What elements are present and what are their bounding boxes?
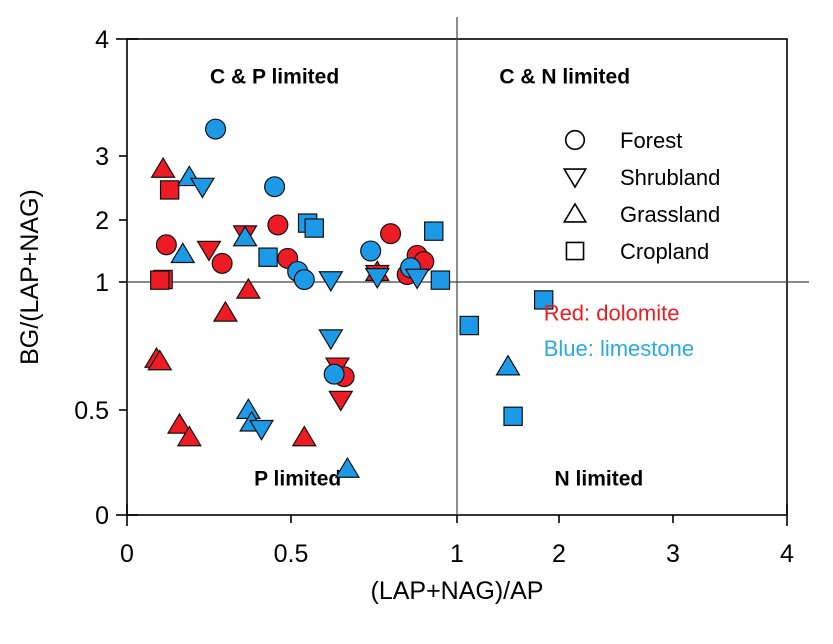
- data-point-square[interactable]: [425, 222, 443, 240]
- series-dolomite: [145, 158, 434, 446]
- data-point-circle[interactable]: [212, 253, 232, 273]
- data-point-circle[interactable]: [156, 235, 176, 255]
- legend-marker-triangle-up: [564, 204, 586, 222]
- data-point-circle[interactable]: [268, 215, 288, 235]
- legend-label-shrubland: Shrubland: [620, 165, 720, 190]
- data-point-triangle-up[interactable]: [152, 158, 175, 177]
- scatter-plot-figure: 00.5123400.51234(LAP+NAG)/APBG/(LAP+NAG)…: [0, 0, 833, 644]
- legend-label-grassland: Grassland: [620, 202, 720, 227]
- y-tick-label: 3: [95, 143, 109, 171]
- legend-label-forest: Forest: [620, 128, 682, 153]
- y-tick-label: 4: [95, 26, 109, 54]
- annotation-red-dolomite: Red: dolomite: [544, 300, 680, 325]
- data-point-triangle-down[interactable]: [319, 272, 342, 291]
- legend-label-cropland: Cropland: [620, 239, 709, 264]
- data-point-triangle-up[interactable]: [293, 427, 316, 446]
- data-point-circle[interactable]: [381, 224, 401, 244]
- data-point-circle[interactable]: [361, 241, 381, 261]
- data-point-triangle-down[interactable]: [319, 330, 342, 349]
- data-point-square[interactable]: [305, 219, 323, 237]
- x-tick-label: 0: [120, 540, 134, 568]
- data-point-triangle-up[interactable]: [214, 302, 237, 321]
- data-point-triangle-up[interactable]: [497, 356, 520, 375]
- data-point-square[interactable]: [431, 271, 449, 289]
- x-tick-label: 2: [552, 540, 566, 568]
- data-point-circle[interactable]: [206, 119, 226, 139]
- data-point-circle[interactable]: [265, 177, 285, 197]
- data-point-square[interactable]: [460, 316, 478, 334]
- annotation-blue-limestone: Blue: limestone: [544, 336, 694, 361]
- series-limestone: [171, 119, 553, 477]
- y-tick-label: 2: [95, 207, 109, 235]
- x-tick-label: 3: [666, 540, 680, 568]
- quadrant-label-1: C & N limited: [499, 65, 630, 88]
- plot-canvas: 00.5123400.51234(LAP+NAG)/APBG/(LAP+NAG)…: [0, 0, 833, 644]
- quadrant-label-2: P limited: [254, 468, 341, 491]
- x-tick-label: 4: [780, 540, 794, 568]
- legend-marker-triangle-down: [564, 169, 586, 187]
- legend-marker-square: [566, 242, 583, 259]
- data-point-triangle-down[interactable]: [329, 391, 352, 410]
- x-tick-label: 1: [450, 540, 464, 568]
- data-point-square[interactable]: [161, 181, 179, 199]
- quadrant-label-3: N limited: [555, 468, 644, 491]
- y-tick-label: 0.5: [74, 397, 109, 425]
- data-point-circle[interactable]: [294, 270, 314, 290]
- data-point-triangle-down[interactable]: [191, 178, 214, 197]
- data-point-square[interactable]: [151, 271, 169, 289]
- quadrant-label-0: C & P limited: [210, 65, 339, 88]
- y-tick-label: 0: [95, 502, 109, 530]
- y-tick-label: 1: [95, 269, 109, 297]
- data-point-square[interactable]: [259, 248, 277, 266]
- x-tick-label: 0.5: [274, 540, 309, 568]
- data-point-triangle-up[interactable]: [237, 399, 260, 418]
- legend-marker-circle: [566, 131, 585, 150]
- data-point-circle[interactable]: [324, 364, 344, 384]
- y-axis-title: BG/(LAP+NAG): [16, 189, 44, 365]
- x-axis-title: (LAP+NAG)/AP: [371, 577, 544, 605]
- data-point-square[interactable]: [504, 407, 522, 425]
